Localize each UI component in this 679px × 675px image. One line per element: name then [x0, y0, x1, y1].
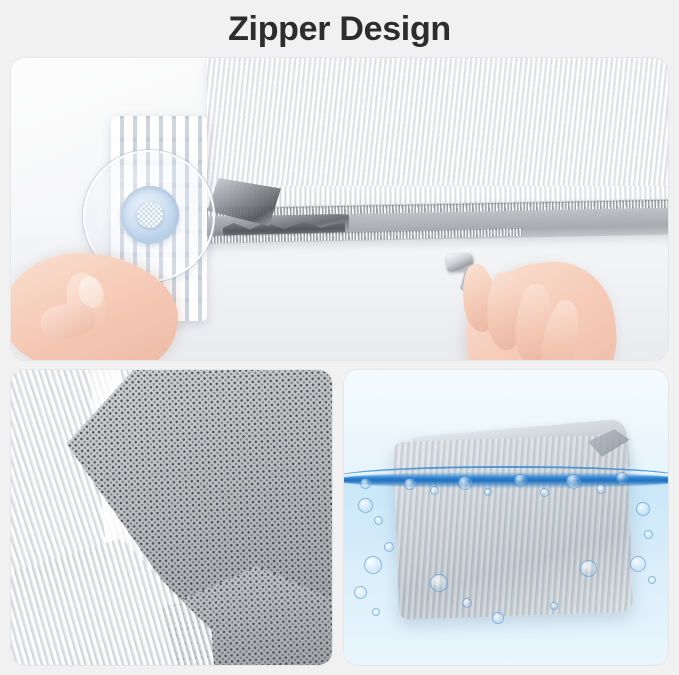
bubble: [484, 488, 492, 496]
bubble: [354, 586, 367, 599]
bubble: [462, 598, 472, 608]
bubble: [360, 478, 371, 489]
cover-submerged: [393, 434, 633, 620]
bubble: [636, 502, 650, 516]
bubble: [430, 486, 439, 495]
bubble: [358, 498, 373, 513]
bubble: [566, 474, 581, 489]
bubble: [616, 472, 628, 484]
bubble: [404, 478, 416, 490]
bubble: [540, 488, 549, 497]
bubble: [364, 556, 382, 574]
bubble: [644, 530, 653, 539]
panel-machine-washable: Convenient for wash: [344, 370, 668, 665]
photo-reversible-cover: [11, 370, 332, 665]
photo-zipper-cover-change: [11, 58, 668, 360]
faux-fur-cover: [207, 58, 668, 208]
bubble: [374, 516, 383, 525]
bubble: [372, 608, 380, 616]
bubble: [384, 542, 394, 552]
bubble: [596, 484, 606, 494]
bubble: [648, 576, 656, 584]
page-title: Zipper Design: [228, 12, 451, 46]
bubble: [630, 556, 646, 572]
panel-zipper-cover-change: Convenient to change the cover: [11, 58, 668, 360]
photo-convenient-for-wash: [344, 370, 668, 665]
bubble: [550, 602, 558, 610]
panel-reversible-cover: Reversible Cover: [11, 370, 332, 665]
page-header: Zipper Design: [0, 0, 679, 55]
bubble: [430, 574, 448, 592]
bubble: [458, 476, 472, 490]
bubble: [492, 612, 504, 624]
bubble: [580, 560, 597, 577]
bubble: [514, 474, 527, 487]
suction-cup-center: [137, 202, 163, 228]
